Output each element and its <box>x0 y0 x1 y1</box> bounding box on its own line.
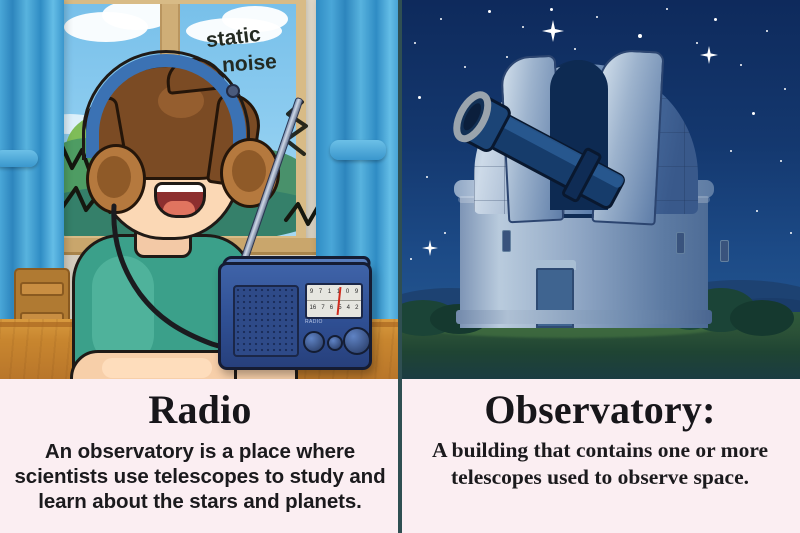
left-caption-body: An observatory is a place where scientis… <box>0 439 400 514</box>
dial-number: 16 <box>310 305 317 311</box>
room-scene: 9 7 1 1 0 9 16 7 6 5 4 2 <box>0 0 400 379</box>
dial-number: 6 <box>330 305 333 311</box>
star-icon <box>714 18 717 21</box>
left-caption-block: Radio An observatory is a place where sc… <box>0 379 400 533</box>
dial-number: 9 <box>355 289 358 295</box>
star-icon <box>444 232 446 234</box>
comparison-image: 9 7 1 1 0 9 16 7 6 5 4 2 <box>0 0 800 533</box>
star-icon <box>766 30 768 32</box>
star-icon <box>522 26 524 28</box>
radio-knob-tiny[interactable] <box>327 335 343 351</box>
star-icon <box>790 232 792 234</box>
star-icon <box>666 8 668 10</box>
dial-scale-bottom: 16 7 6 5 4 2 <box>307 301 361 314</box>
dial-number: 7 <box>321 305 324 311</box>
building-window <box>676 232 685 254</box>
annotation-noise: noise <box>221 50 277 78</box>
sparkle-star-icon <box>700 46 718 64</box>
radio-device: 9 7 1 1 0 9 16 7 6 5 4 2 <box>218 262 372 370</box>
star-icon <box>488 10 491 13</box>
sparkle-star-icon <box>422 240 438 256</box>
left-illustration-panel: 9 7 1 1 0 9 16 7 6 5 4 2 <box>0 0 400 379</box>
dial-number: 2 <box>355 305 358 311</box>
dial-number: 1 <box>328 289 331 295</box>
star-icon <box>730 150 732 152</box>
radio-speaker-grille <box>233 285 299 357</box>
curtain-tieback <box>330 140 386 160</box>
arm-highlight <box>102 358 212 378</box>
star-icon <box>440 18 442 20</box>
star-icon <box>784 88 786 90</box>
building-window <box>720 240 729 262</box>
telescope <box>420 40 650 230</box>
teeth <box>157 185 203 192</box>
bush <box>730 300 794 336</box>
dial-number: 9 <box>310 289 313 295</box>
star-icon <box>638 34 642 38</box>
star-icon <box>752 112 755 115</box>
headphone-earpad <box>97 156 131 198</box>
radio-knob-large[interactable] <box>343 327 371 355</box>
night-sky <box>400 0 800 379</box>
star-icon <box>414 42 416 44</box>
sparkle-star-icon <box>542 20 564 42</box>
dial-number: 4 <box>347 305 350 311</box>
star-icon <box>740 64 742 66</box>
dial-number: 7 <box>319 289 322 295</box>
star-icon <box>596 16 598 18</box>
star-icon <box>550 8 553 11</box>
building-window <box>502 230 511 252</box>
left-caption-title: Radio <box>148 387 251 433</box>
panel-divider <box>398 0 402 533</box>
right-caption-title: Observatory: <box>484 387 715 433</box>
dial-number: 0 <box>346 289 349 295</box>
right-caption-block: Observatory: A building that contains on… <box>400 379 800 533</box>
right-caption-body: A building that contains one or more tel… <box>400 437 800 491</box>
star-icon <box>696 42 698 44</box>
headphone-earcup-left <box>86 144 146 214</box>
mouth <box>154 182 206 218</box>
chair-slat <box>20 282 64 296</box>
star-icon <box>756 210 758 212</box>
tongue <box>163 201 195 215</box>
headphone-earpad <box>232 150 266 192</box>
radio-tuning-dial: 9 7 1 1 0 9 16 7 6 5 4 2 <box>305 283 363 319</box>
dial-scale-top: 9 7 1 1 0 9 <box>307 285 361 298</box>
curtain-tieback <box>0 150 38 167</box>
radio-knob-small[interactable] <box>303 331 325 353</box>
radio-antenna-tip <box>226 84 240 98</box>
star-icon <box>780 160 782 162</box>
right-illustration-panel <box>400 0 800 379</box>
radio-brand-label: RADIO <box>305 319 361 327</box>
building-foundation <box>456 310 712 324</box>
